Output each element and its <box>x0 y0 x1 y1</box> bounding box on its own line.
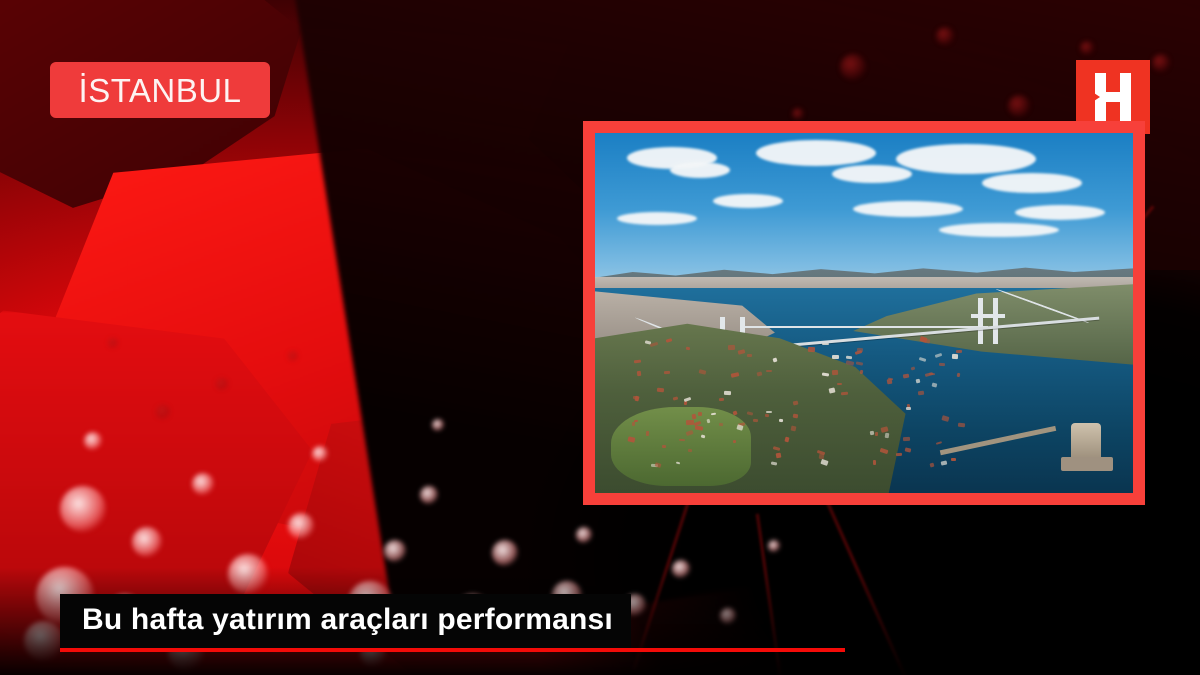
photo-frame <box>583 121 1145 505</box>
house-roof <box>662 445 666 448</box>
house-roof <box>918 391 924 395</box>
house-roof <box>956 372 960 376</box>
house-roof <box>686 420 694 425</box>
house-roof <box>719 398 724 402</box>
bokeh-dot <box>60 486 106 532</box>
house-roof <box>695 426 703 431</box>
house-roof <box>884 433 889 438</box>
house-roof <box>738 350 746 356</box>
house-roof <box>637 371 641 376</box>
house-roof <box>687 448 691 451</box>
bridge-pylon <box>993 298 998 344</box>
house-roof <box>686 347 691 351</box>
bokeh-dot <box>312 446 328 462</box>
house-roof <box>747 354 752 357</box>
house-roof <box>869 431 873 436</box>
house-roof <box>808 347 816 352</box>
bokeh-dot <box>156 405 170 419</box>
house-roof <box>902 373 909 378</box>
house-roof <box>732 440 736 444</box>
house-roof <box>905 447 912 452</box>
house-roof <box>765 414 769 417</box>
house-roof <box>941 415 949 421</box>
house-roof <box>932 382 937 387</box>
house-roof <box>859 369 863 374</box>
house-roof <box>911 367 916 371</box>
house-roof <box>936 441 943 445</box>
bokeh-dot <box>84 432 102 450</box>
city-badge-label: İSTANBUL <box>79 74 242 107</box>
house-roof <box>657 388 664 392</box>
house-roof <box>736 424 743 430</box>
house-roof <box>632 422 636 427</box>
house-roof <box>903 437 910 441</box>
house-roof <box>718 423 722 427</box>
bokeh-dot <box>288 351 298 361</box>
cloud <box>939 223 1059 237</box>
bokeh-dot <box>192 473 214 495</box>
bokeh-dot <box>1152 54 1170 72</box>
headline-underline <box>60 648 845 652</box>
bokeh-dot <box>288 513 314 539</box>
house-roof <box>698 412 703 416</box>
fortress-tower <box>1071 423 1101 471</box>
house-roof <box>906 407 911 410</box>
house-roof <box>779 419 784 423</box>
house-roof <box>956 350 962 353</box>
house-roof <box>747 412 754 416</box>
house-roof <box>939 363 946 366</box>
bosphorus-photo <box>595 133 1133 493</box>
house-roof <box>728 345 735 350</box>
bokeh-dot <box>216 378 228 390</box>
bokeh-dot <box>768 540 780 552</box>
house-roof <box>832 370 838 375</box>
house-roof <box>952 354 958 359</box>
house-roof <box>916 378 921 383</box>
house-roof <box>775 453 780 459</box>
bokeh-dot <box>840 54 866 80</box>
house-roof <box>711 413 716 416</box>
house-roof <box>845 360 853 365</box>
house-roof <box>929 373 935 375</box>
house-roof <box>919 336 927 343</box>
bridge-pylon <box>978 298 983 344</box>
bokeh-dot <box>108 338 118 348</box>
house-roof <box>772 357 777 362</box>
house-roof <box>699 370 707 375</box>
house-roof <box>679 439 685 442</box>
house-roof <box>837 383 842 385</box>
house-roof <box>766 411 772 413</box>
house-roof <box>724 391 731 396</box>
house-roof <box>790 426 796 432</box>
house-roof <box>822 343 829 345</box>
house-roof <box>633 396 638 399</box>
house-roof <box>792 413 798 417</box>
bokeh-dot <box>132 527 162 557</box>
house-roof <box>832 355 839 359</box>
house-roof <box>766 370 772 372</box>
bokeh-dot <box>492 540 518 566</box>
cloud <box>1015 205 1105 220</box>
house-roof <box>732 410 737 415</box>
house-roof <box>918 357 926 363</box>
house-roof <box>828 387 835 393</box>
house-roof <box>896 453 902 456</box>
house-roof <box>875 432 878 437</box>
bokeh-dot <box>1008 95 1030 117</box>
house-roof <box>772 446 779 451</box>
house-roof <box>792 400 798 405</box>
headline-text: Bu hafta yatırım araçları performansı <box>60 594 631 648</box>
house-roof <box>841 392 849 396</box>
news-card: İSTANBUL <box>0 0 1200 675</box>
house-roof <box>855 361 862 365</box>
houses-roofs <box>627 335 961 465</box>
house-roof <box>757 372 763 377</box>
house-roof <box>676 461 681 464</box>
house-roof <box>628 436 635 442</box>
bokeh-dot <box>1080 41 1094 55</box>
house-roof <box>665 338 671 342</box>
bokeh-dot <box>936 27 954 45</box>
house-roof <box>857 348 864 352</box>
cloud <box>670 162 730 178</box>
house-roof <box>664 371 670 374</box>
house-roof <box>785 436 790 442</box>
house-roof <box>880 448 889 454</box>
house-roof <box>951 458 957 461</box>
cloud <box>896 144 1036 174</box>
house-roof <box>822 372 829 376</box>
house-roof <box>672 396 678 400</box>
house-roof <box>646 431 650 436</box>
house-roof <box>753 419 758 423</box>
bokeh-dot <box>384 540 406 562</box>
house-roof <box>873 460 876 465</box>
city-badge[interactable]: İSTANBUL <box>50 62 270 118</box>
bokeh-dot <box>420 486 438 504</box>
house-roof <box>684 397 691 402</box>
bokeh-dot <box>792 108 804 120</box>
house-roof <box>685 430 693 436</box>
house-roof <box>634 359 641 363</box>
bokeh-dot <box>576 527 592 543</box>
headline-block: Bu hafta yatırım araçları performansı <box>60 594 845 652</box>
cloud <box>982 173 1082 193</box>
bokeh-dot <box>432 419 444 431</box>
house-roof <box>700 434 705 439</box>
house-roof <box>707 419 711 424</box>
house-roof <box>934 353 941 358</box>
house-roof <box>730 373 738 378</box>
